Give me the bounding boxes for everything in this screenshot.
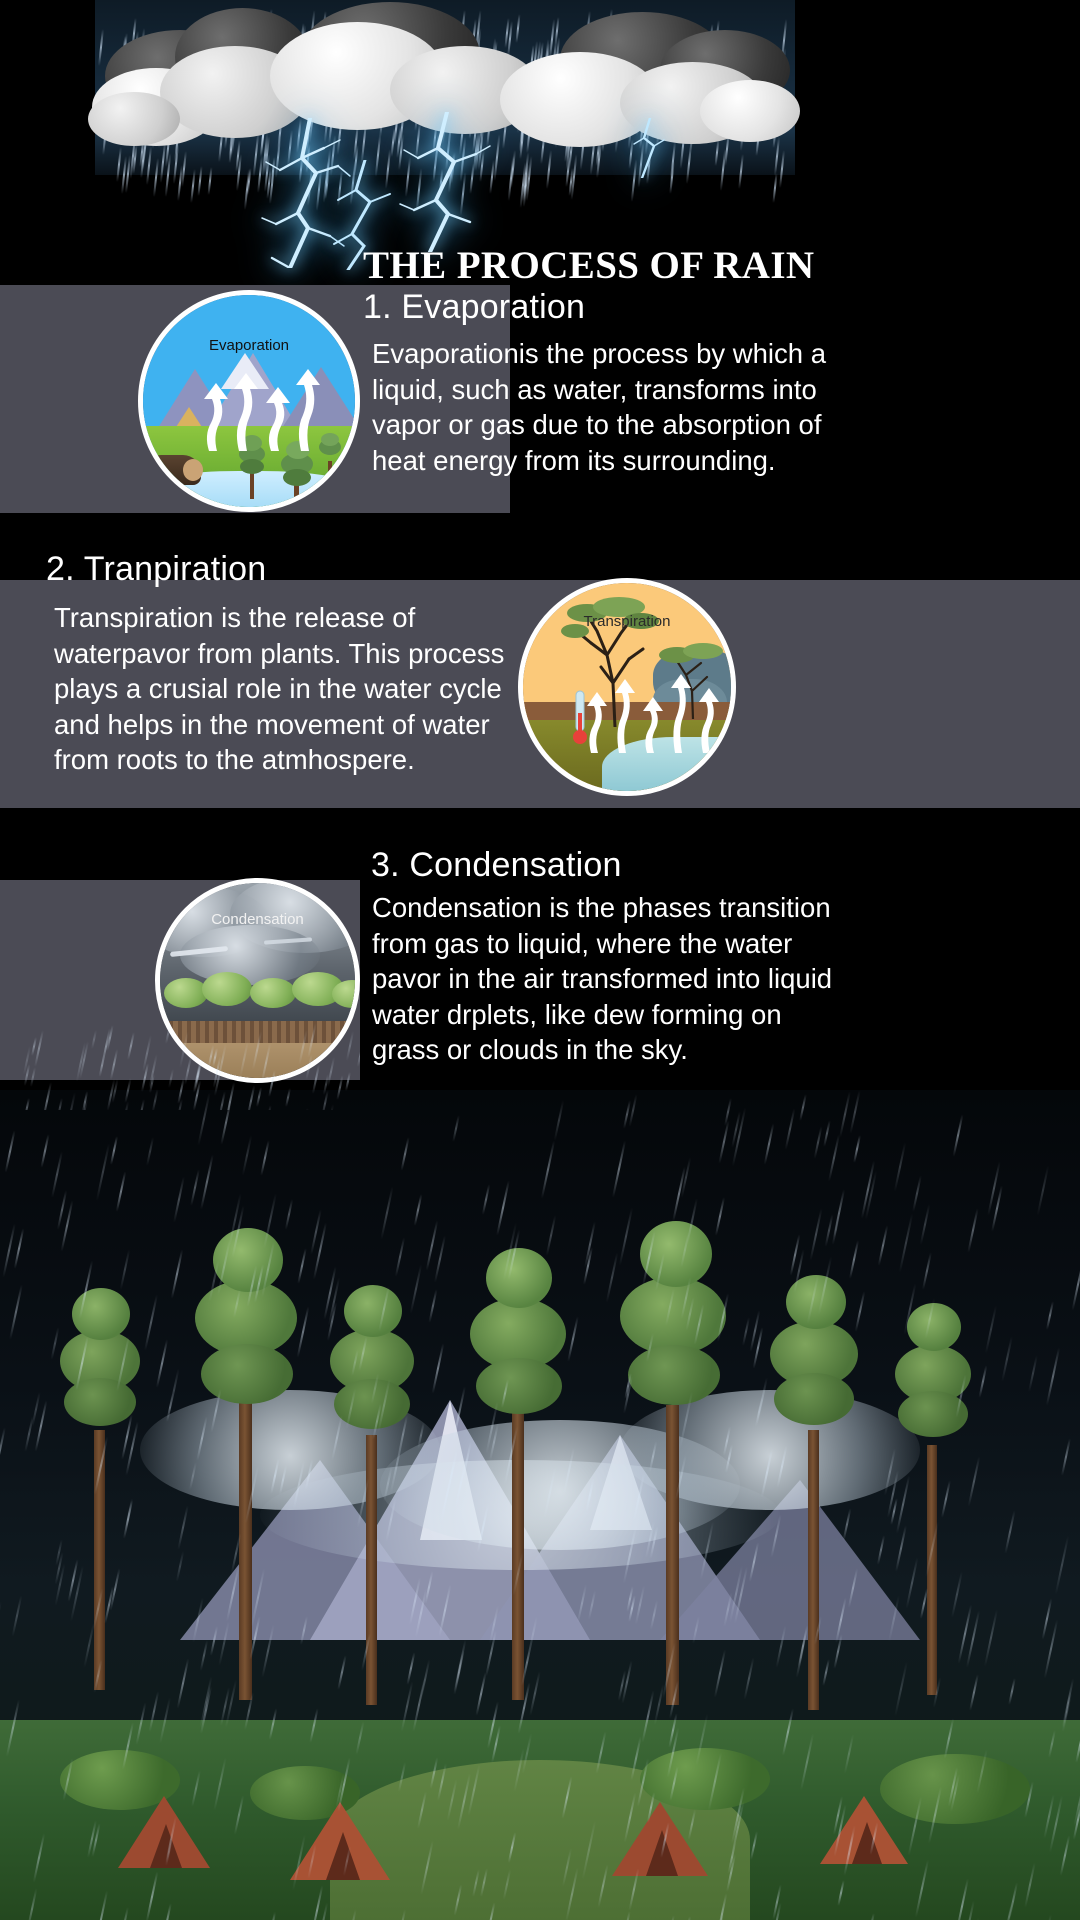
- forest-bush-3: [640, 1748, 770, 1810]
- condensation-bush-1: [164, 978, 208, 1008]
- section-2-body: Transpiration is the release of waterpav…: [54, 600, 522, 778]
- lightning-bolt-far-right: [630, 118, 670, 178]
- transpiration-circle-label: Transpiration: [523, 613, 731, 630]
- section-2-heading: 2. Tranpiration: [46, 550, 266, 589]
- section-3-body: Condensation is the phases transition fr…: [372, 890, 842, 1068]
- condensation-bush-2: [202, 972, 252, 1006]
- evaporation-vapor-arrows: [195, 345, 325, 451]
- section-1-body: Evaporationis the process by which a liq…: [372, 336, 832, 478]
- forest-tent-4-door: [852, 1822, 882, 1864]
- section-3-heading: 3. Condensation: [371, 846, 622, 885]
- transpiration-illustration: Transpiration: [518, 578, 736, 796]
- section-1-heading: 1. Evaporation: [363, 288, 585, 327]
- condensation-circle-label: Condensation: [160, 911, 355, 928]
- condensation-bush-3: [250, 978, 296, 1008]
- cloud-white-far-right: [700, 80, 800, 142]
- page-title: THE PROCESS OF RAIN: [363, 243, 1063, 288]
- transpiration-vapor-arrows: [579, 657, 719, 753]
- mid-rain-overlay: [0, 1020, 360, 1110]
- evaporation-illustration: Evaporation: [138, 290, 360, 512]
- rainy-forest-scene: [0, 1090, 1080, 1920]
- infographic-poster: THE PROCESS OF RAIN 1. Evaporation Evapo…: [0, 0, 1080, 1920]
- cloud-white-far-left: [88, 92, 180, 146]
- evaporation-circle-label: Evaporation: [143, 337, 355, 354]
